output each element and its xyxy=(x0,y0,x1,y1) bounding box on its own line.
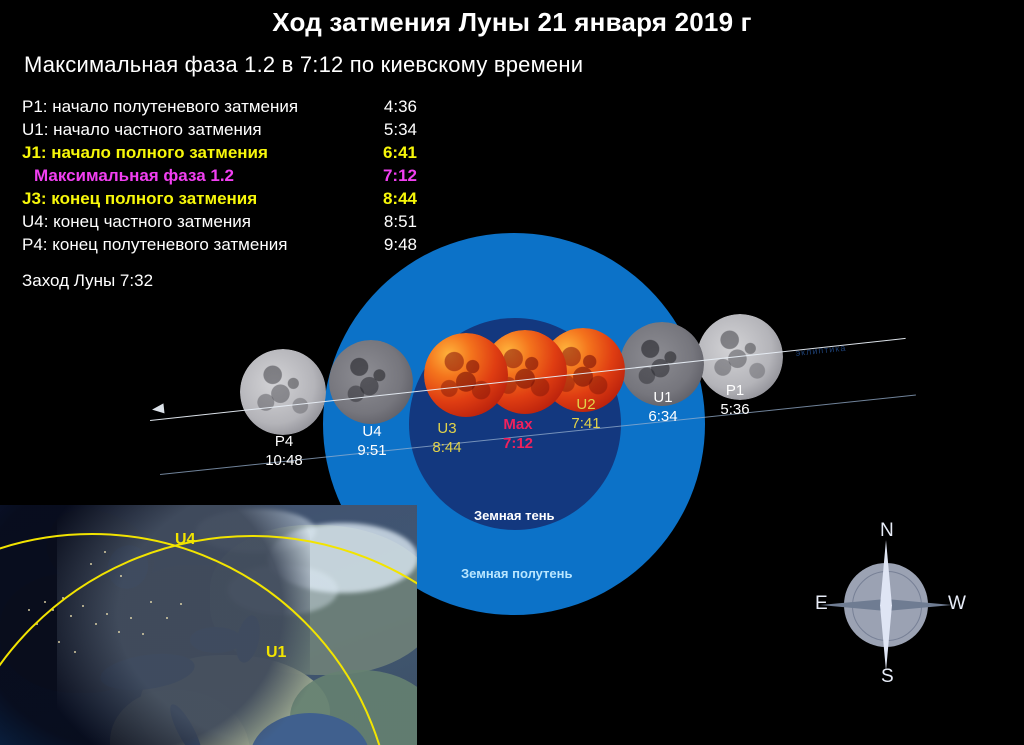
umbra-label: Земная тень xyxy=(474,508,555,523)
earth-visibility-map: U4 U1 xyxy=(0,505,417,745)
moon-label-name: U3 xyxy=(412,419,482,438)
ecliptic-label: эклиптика xyxy=(795,343,847,358)
moon-label-u1: U1 6:34 xyxy=(628,388,698,426)
moon-label-p1: P1 5:36 xyxy=(700,381,770,419)
eclipse-infographic: Ход затмения Луны 21 января 2019 г Макси… xyxy=(0,0,1024,745)
moon-surface xyxy=(240,349,326,435)
moon-surface xyxy=(424,333,508,417)
moon-label-time: 7:41 xyxy=(551,414,621,433)
moon-label-time: 6:34 xyxy=(628,407,698,426)
moon-label-time: 5:36 xyxy=(700,400,770,419)
moon-label-name: P1 xyxy=(700,381,770,400)
compass-needle-east xyxy=(820,599,886,611)
moon-label-p4: P4 10:48 xyxy=(249,432,319,470)
moon-label-name: U4 xyxy=(337,422,407,441)
compass-needle-south xyxy=(880,605,892,671)
moon-label-time: 10:48 xyxy=(249,451,319,470)
moon-label-name: Max xyxy=(480,415,556,434)
map-label-u1: U1 xyxy=(266,644,286,662)
compass-needle-north xyxy=(880,540,892,606)
compass-label-e: E xyxy=(815,593,828,615)
moon-label-max: Max 7:12 xyxy=(480,415,556,453)
moon-label-u3: U3 8:44 xyxy=(412,419,482,457)
map-label-u4: U4 xyxy=(175,531,195,549)
moon-label-u4: U4 9:51 xyxy=(337,422,407,460)
moon-label-name: U1 xyxy=(628,388,698,407)
moon-label-time: 7:12 xyxy=(480,434,556,453)
compass-label-n: N xyxy=(880,520,894,542)
moon-surface xyxy=(329,340,413,424)
moon-label-time: 9:51 xyxy=(337,441,407,460)
compass-label-w: W xyxy=(948,593,966,615)
compass-label-s: S xyxy=(881,666,894,688)
direction-arrow-icon xyxy=(151,403,164,414)
moon-u3 xyxy=(424,333,508,417)
compass-needle-west xyxy=(886,599,952,611)
moon-label-name: P4 xyxy=(249,432,319,451)
penumbra-label: Земная полутень xyxy=(461,566,572,581)
compass-rose: N E W S xyxy=(815,520,965,690)
moon-u4 xyxy=(329,340,413,424)
moon-label-name: U2 xyxy=(551,395,621,414)
moon-label-time: 8:44 xyxy=(412,438,482,457)
moon-p4 xyxy=(240,349,326,435)
moon-label-u2: U2 7:41 xyxy=(551,395,621,433)
